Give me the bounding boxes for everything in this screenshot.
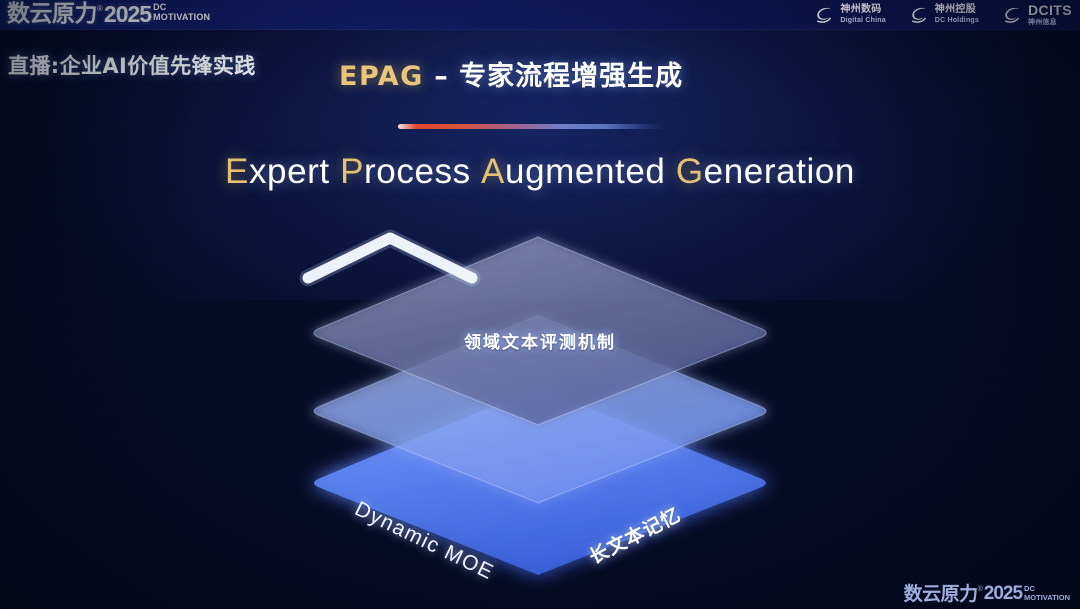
partner-logo-dc-holdings: 神州控股 DC Holdings <box>908 4 979 26</box>
layer-top-label: 领域文本评测机制 <box>300 328 780 353</box>
title-divider <box>398 124 664 129</box>
footer-watermark-logo: 数云原力 ® 2025 DC MOTIVATION <box>904 584 1070 604</box>
partner-logo-group: 神州数码 Digital China 神州控股 DC Holdings DCIT… <box>813 3 1072 26</box>
subtitle-rest-1: xpert <box>249 152 330 191</box>
subtitle: Expert Process Augmented Generation <box>0 152 1080 192</box>
slide-stage: 数云原力 ® 2025 DC MOTIVATION 直播:企业AI价值先锋实践 … <box>0 0 1080 609</box>
swirl-icon <box>813 4 835 26</box>
partner-name-cn: 神州控股 <box>935 5 979 15</box>
event-logo-dc-line2: MOTIVATION <box>153 12 210 23</box>
chevron-up-icon <box>300 228 480 288</box>
live-stream-label: 直播:企业AI价值先锋实践 <box>8 50 256 80</box>
partner-name-en: DCITS <box>1028 3 1072 17</box>
subtitle-cap-1: E <box>225 152 249 191</box>
diagram-layer-top[interactable]: 领域文本评测机制 <box>300 228 780 428</box>
partner-name-en: Digital China <box>840 17 885 24</box>
subtitle-space-2 <box>471 152 481 191</box>
swirl-icon <box>908 4 930 26</box>
swirl-icon <box>1001 4 1023 26</box>
event-logo-dc: DC MOTIVATION <box>153 3 210 23</box>
partner-text: DCITS 神州信息 <box>1028 3 1072 26</box>
watermark-cn: 数云原力 <box>904 584 978 604</box>
title-rest: – 专家流程增强生成 <box>424 61 683 92</box>
partner-name-cn: 神州信息 <box>1028 19 1072 26</box>
subtitle-rest-4: eneration <box>704 152 855 191</box>
page-title: EPAG – 专家流程增强生成 <box>339 54 683 93</box>
subtitle-cap-4: G <box>676 152 704 191</box>
subtitle-space-1 <box>330 152 340 191</box>
watermark-dc-line1: DC <box>1024 585 1070 593</box>
event-logo-year: 2025 <box>104 2 151 26</box>
title-acronym: EPAG <box>339 61 424 92</box>
watermark-registered: ® <box>978 585 983 595</box>
watermark-year: 2025 <box>984 584 1022 604</box>
event-logo-dc-line1: DC <box>153 3 210 12</box>
subtitle-cap-2: P <box>340 152 364 191</box>
subtitle-rest-2: rocess <box>364 152 471 191</box>
event-logo-cn: 数云原力 <box>7 2 97 26</box>
watermark-dc-line2: MOTIVATION <box>1024 593 1070 602</box>
partner-name-en: DC Holdings <box>935 17 979 24</box>
subtitle-space-3 <box>665 152 675 191</box>
event-logo: 数云原力 ® 2025 DC MOTIVATION <box>7 2 210 26</box>
partner-text: 神州控股 DC Holdings <box>935 5 979 24</box>
partner-name-cn: 神州数码 <box>840 5 885 15</box>
subtitle-rest-3: ugmented <box>505 152 665 191</box>
partner-logo-dcits: DCITS 神州信息 <box>1001 3 1072 26</box>
watermark-dc: DC MOTIVATION <box>1024 585 1070 602</box>
event-logo-registered: ® <box>97 3 103 15</box>
partner-logo-digital-china: 神州数码 Digital China <box>813 4 885 26</box>
partner-text: 神州数码 Digital China <box>840 5 885 24</box>
subtitle-cap-3: A <box>481 152 505 191</box>
layer-stack-diagram: 三类语义建模模块 Dynamic MOE 长 <box>300 228 780 568</box>
